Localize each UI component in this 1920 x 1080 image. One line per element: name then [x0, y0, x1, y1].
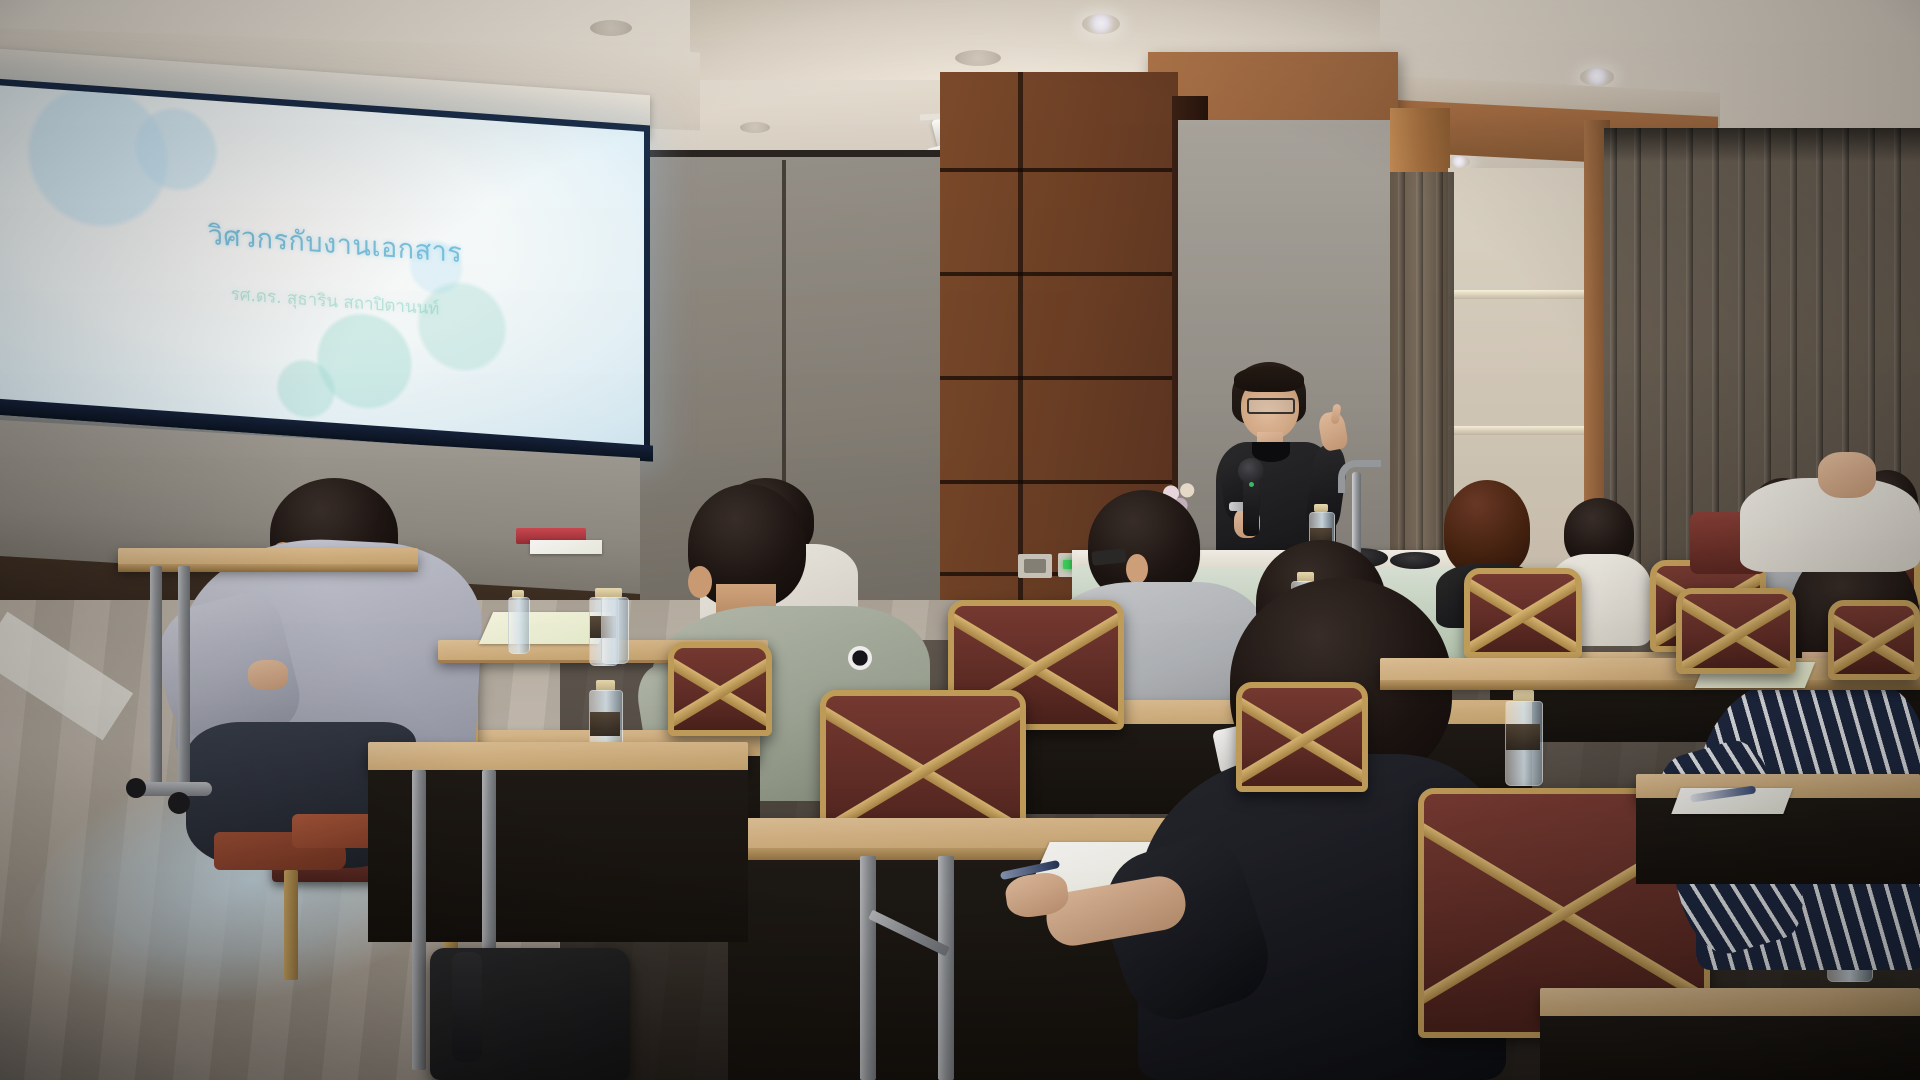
microphone-indicator — [1249, 482, 1254, 487]
recessed-downlight — [740, 122, 770, 133]
table-leg — [938, 856, 954, 1080]
folding-seminar-table — [118, 548, 418, 668]
attendee-right-rear — [1740, 452, 1920, 592]
table-top — [1540, 988, 1920, 1018]
recessed-downlight — [590, 20, 632, 36]
attendee-ear — [688, 566, 712, 598]
banquet-chair[interactable] — [668, 642, 772, 736]
table-leg — [150, 566, 162, 788]
bottle-label — [590, 712, 620, 736]
table-top — [368, 742, 748, 772]
table-edge — [1380, 680, 1920, 690]
banquet-chair[interactable] — [1236, 682, 1368, 792]
banquet-chair[interactable] — [1676, 588, 1796, 674]
recessed-downlight — [1580, 68, 1614, 86]
chair-leg — [284, 870, 298, 980]
table-edge — [118, 564, 418, 572]
microphone-stand-gooseneck — [1338, 460, 1381, 493]
bottle-cap — [1314, 504, 1328, 512]
recessed-downlight — [955, 50, 1001, 66]
recessed-downlight — [1448, 156, 1470, 168]
recessed-downlight — [1082, 14, 1120, 34]
polo-logo — [848, 646, 872, 670]
bottle-body — [508, 597, 530, 654]
banquet-chair[interactable] — [1828, 600, 1920, 680]
microphone-head — [1238, 458, 1264, 484]
backpack-strap — [452, 952, 482, 1062]
presenter-glasses — [1247, 398, 1295, 414]
table-caster — [126, 778, 146, 798]
bottle-body — [601, 597, 629, 664]
table-caster — [168, 792, 190, 814]
drinking-water-bottle[interactable] — [508, 590, 528, 652]
curtain-shadow — [1604, 128, 1920, 162]
drinking-water-bottle[interactable] — [600, 588, 628, 662]
handout-paper[interactable] — [530, 540, 602, 554]
table-leg — [412, 770, 426, 1070]
attendee-hand — [1818, 452, 1876, 498]
table-leg — [178, 566, 190, 788]
attendee-hair — [1444, 480, 1530, 576]
table-skirt — [1540, 1016, 1920, 1080]
folding-seminar-table — [1540, 988, 1920, 1080]
table-leg — [860, 856, 876, 1080]
seminar-room-photo: วิศวกรกับงานเอกสาร รศ.ดร. สุธาริน สถาปิต… — [0, 0, 1920, 1080]
presenter-hair-fringe — [1234, 366, 1304, 392]
